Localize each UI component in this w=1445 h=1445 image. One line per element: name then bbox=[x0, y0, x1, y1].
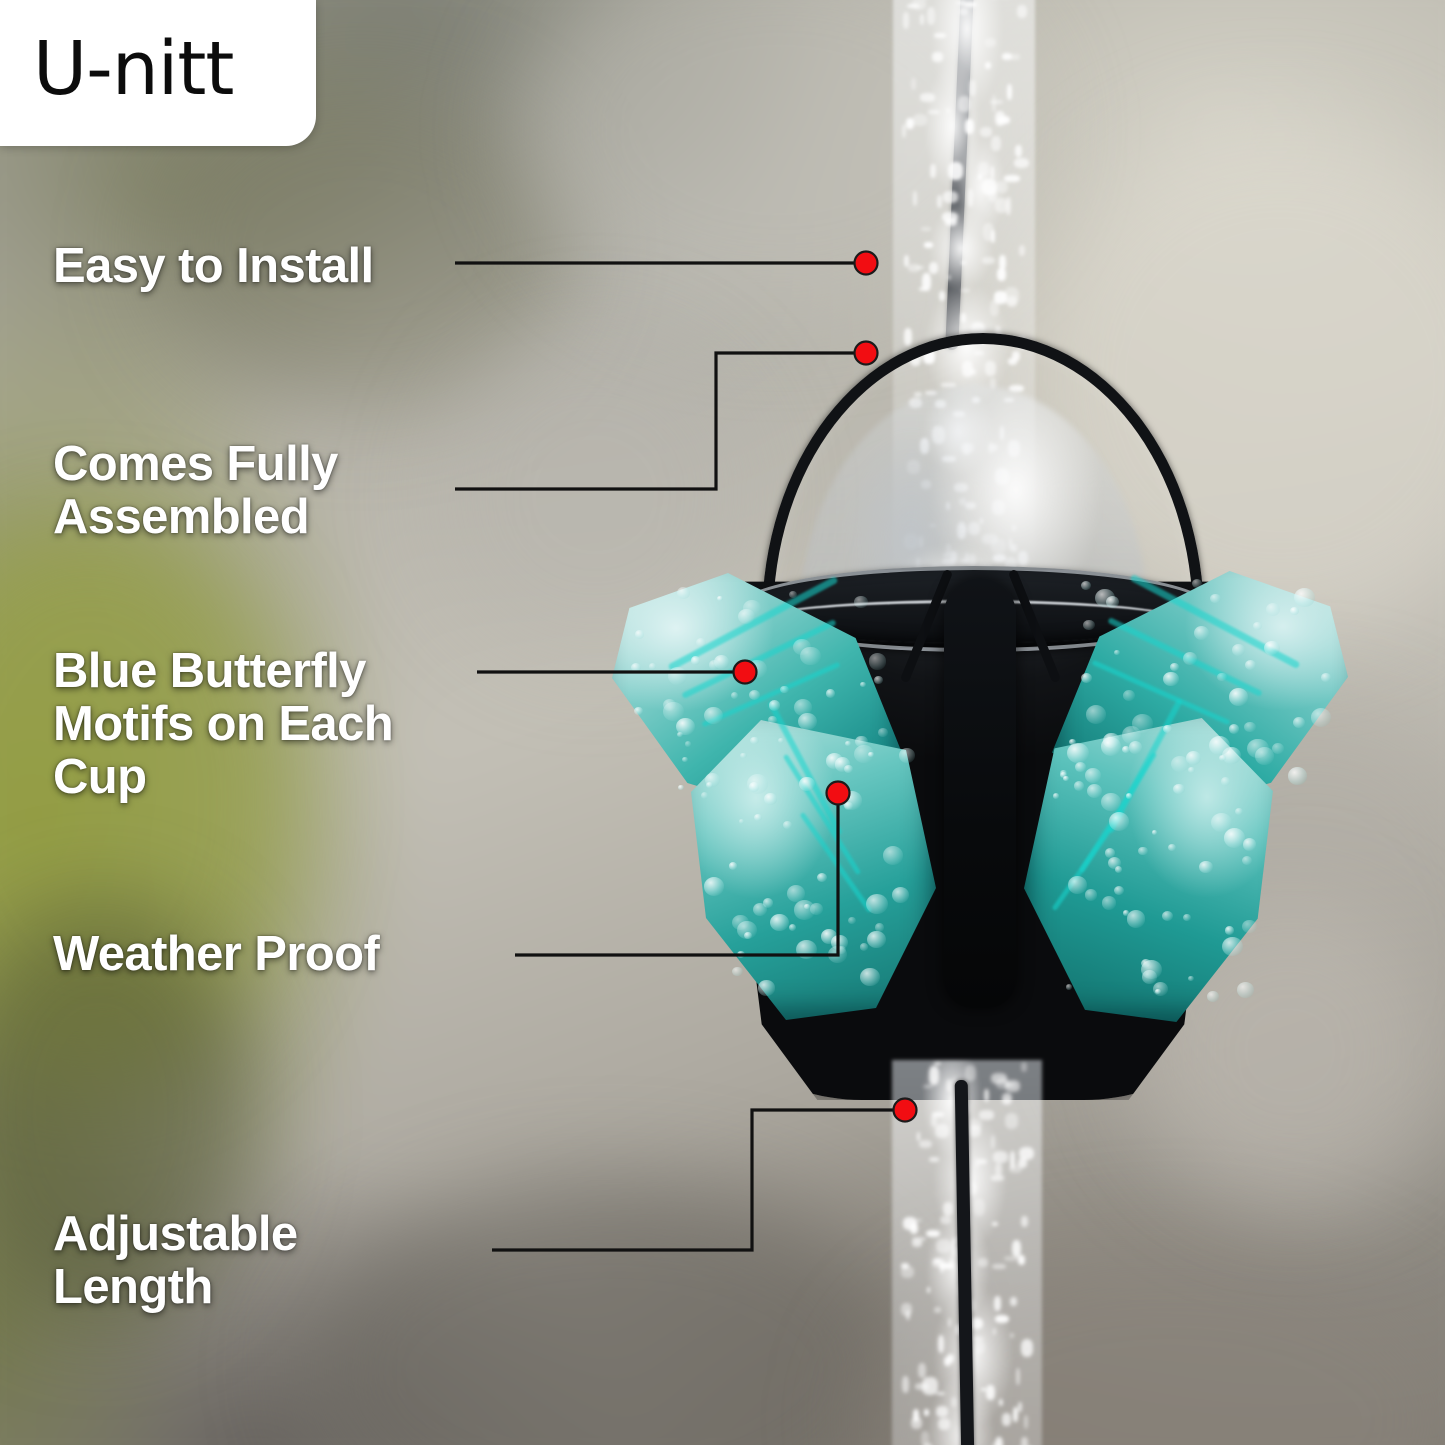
callout-label-adjustable-length: Adjustable Length bbox=[53, 1208, 297, 1314]
callout-line-adjustable-length bbox=[492, 1110, 905, 1250]
callout-label-blue-butterfly-motifs: Blue Butterfly Motifs on Each Cup bbox=[53, 645, 393, 804]
brand-badge: U-nitt bbox=[0, 0, 316, 146]
callout-dot-adjustable-length bbox=[894, 1099, 917, 1122]
callout-dot-weather-proof bbox=[827, 782, 850, 805]
callout-label-easy-to-install: Easy to Install bbox=[53, 240, 374, 293]
callout-line-comes-fully-assembled bbox=[455, 353, 866, 489]
callout-dot-easy-to-install bbox=[855, 252, 878, 275]
brand-logo-text: U-nitt bbox=[33, 26, 233, 112]
callout-dot-blue-butterfly-motifs bbox=[734, 661, 757, 684]
callout-label-weather-proof: Weather Proof bbox=[53, 928, 379, 981]
callout-dot-comes-fully-assembled bbox=[855, 342, 878, 365]
callout-line-weather-proof bbox=[515, 793, 838, 955]
callout-label-comes-fully-assembled: Comes Fully Assembled bbox=[53, 438, 338, 544]
product-infographic: Easy to InstallComes Fully AssembledBlue… bbox=[0, 0, 1445, 1445]
